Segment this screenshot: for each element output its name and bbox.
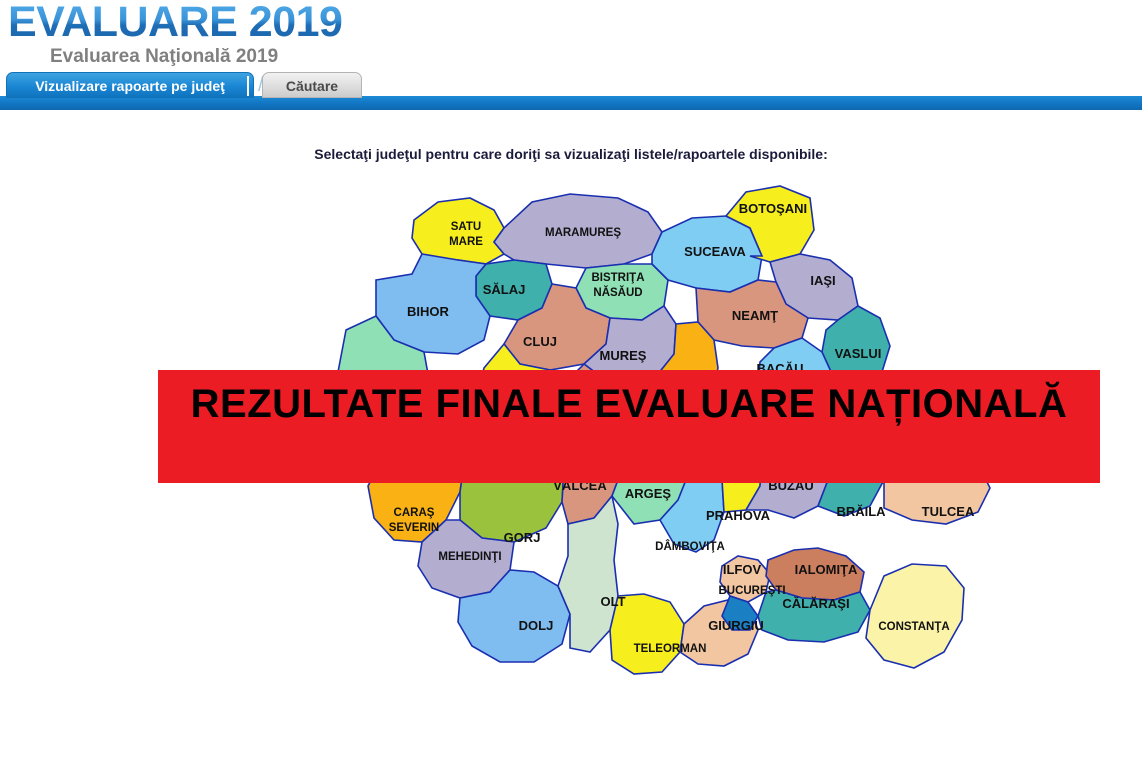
tab-bar: Vizualizare rapoarte pe judeţ / Căutare — [0, 72, 1142, 102]
county-ilfov[interactable] — [720, 556, 770, 602]
text-cursor — [247, 76, 249, 96]
county-teleorman[interactable] — [610, 594, 684, 674]
county-suceava[interactable] — [652, 216, 762, 292]
tab-cautare[interactable]: Căutare — [262, 72, 362, 98]
county-constanţa[interactable] — [866, 564, 964, 668]
county-maramureş[interactable] — [494, 194, 662, 268]
instruction-text: Selectaţi judeţul pentru care doriţi sa … — [0, 146, 1142, 162]
page-subtitle: Evaluarea Naţională 2019 — [50, 46, 278, 68]
results-banner: REZULTATE FINALE EVALUARE NAȚIONALĂ — [158, 370, 1100, 483]
tab-active-label: Vizualizare rapoarte pe judeţ — [35, 78, 225, 94]
county-bucureşti[interactable] — [722, 596, 758, 630]
page-title: EVALUARE 2019 — [8, 0, 342, 47]
page-header: EVALUARE 2019 Evaluarea Naţională 2019 — [0, 0, 1142, 70]
results-banner-text: REZULTATE FINALE EVALUARE NAȚIONALĂ — [191, 382, 1068, 427]
tab-vizualizare-rapoarte-pe-judet[interactable]: Vizualizare rapoarte pe judeţ — [6, 72, 254, 98]
